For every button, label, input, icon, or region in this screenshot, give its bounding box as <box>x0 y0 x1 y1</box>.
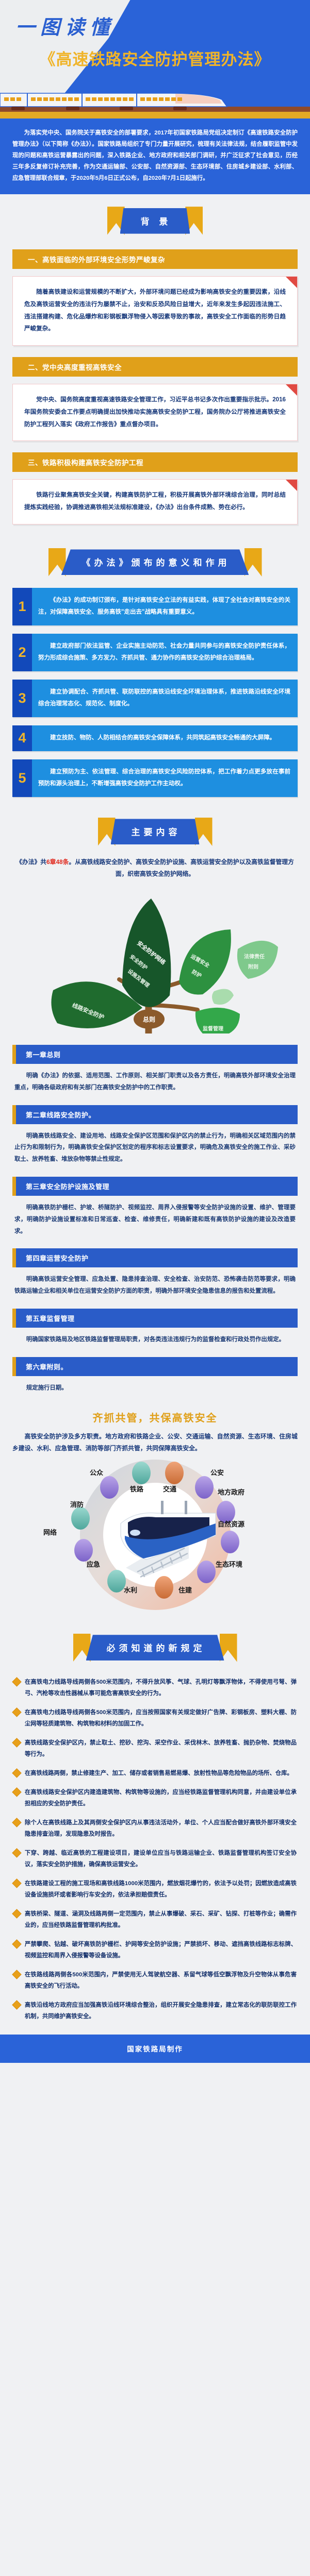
intro-block: 为落实党中央、国务院关于高铁安全的部署要求，2017年初国家铁路局党组决定制订《… <box>0 116 310 194</box>
background-banner: 背 景 <box>0 194 310 244</box>
stakeholder-dot-11 <box>71 1507 90 1530</box>
chapter-body-3: 明确高铁防护栅栏、护坡、桥隧防护、视频监控、周界入侵报警等安全防护设施的设置、维… <box>14 1202 296 1237</box>
background-body-3: 铁路行业聚焦高铁安全关键，构建高铁防护工程，积极开展高铁外部环境综合治理，同时总… <box>24 489 286 514</box>
tree-leaf-5: 法律责任 附则 <box>237 941 278 979</box>
list-item: 在高铁线路两侧，禁止修建生产、加工、储存或者销售易燃易爆、放射性物品等危险物品的… <box>13 1768 297 1779</box>
chapter-body-4: 明确高铁运营安全管理、应急处置、隐患排查治理、安全检查、治安防范、恐怖袭击防范等… <box>14 1274 296 1297</box>
joint-desc: 高铁安全防护涉及多方职责。地方政府和铁路企业、公安、交通运输、自然资源、生态环境… <box>12 1431 298 1454</box>
infographic-page: 一图读懂 《高速铁路安全防护管理办法》 <box>0 0 310 2063</box>
item-text: 建立政府部门依法监管、企业实施主动防范、社会力量共同参与的高铁安全防护责任体系，… <box>32 634 298 671</box>
main-intro-pre: 《办法》共 <box>16 858 46 866</box>
rule-text: 高铁线路安全保护区内，禁止取土、挖砂、挖沟、采空作业、采伐林木、放养牲畜、抛扔杂… <box>25 1737 297 1760</box>
stakeholder-label-4: 公安 <box>210 1469 224 1477</box>
main-content-intro: 《办法》共6章48条。从高铁线路安全防护、高铁安全防护设施、高铁运营安全防护以及… <box>0 855 310 880</box>
list-item: 1 《办法》的成功制订颁布，是针对高铁安全立法的有益实践，体现了全社会对高铁安全… <box>12 588 298 625</box>
rule-text: 高铁桥梁、隧道、涵洞及线路两侧一定范围内，禁止从事爆破、采石、采矿、钻探、打桩等… <box>25 1908 297 1931</box>
chapter-body-wrap-2: 明确高铁线路安全、建设用地、线路安全保护区范围和保护区内的禁止行为，明确相关区域… <box>12 1130 298 1165</box>
list-item: 严禁攀爬、钻越、破坏高铁防护栅栏、护网等安全防护设施；严禁损坏、移动、遮挡高铁线… <box>13 1939 297 1961</box>
stakeholder-label-8: 住建 <box>178 1586 192 1594</box>
list-item: 5 建立预防为主、依法管理、综合治理的高铁安全风险防控体系，把工作着力点更多放在… <box>12 759 298 797</box>
stakeholder-dot-7 <box>197 1561 216 1583</box>
tree-leaf-label-4: 监督管理 <box>203 1025 223 1032</box>
rule-text: 在高铁电力线路导线两侧各500米范围内，应当按照国家有关规定做好广告牌、彩钢板房… <box>25 1707 297 1730</box>
list-item: 在高铁电力线路导线两侧各500米范围内，应当按照国家有关规定做好广告牌、彩钢板房… <box>13 1707 297 1730</box>
item-number: 5 <box>12 759 32 797</box>
stakeholder-label-2: 铁路 <box>129 1485 144 1493</box>
main-content-banner: 主要内容 <box>0 805 310 855</box>
tree-leaf-label-5b: 附则 <box>248 963 258 970</box>
background-banner-label: 背 景 <box>120 208 190 234</box>
stakeholder-dot-10 <box>74 1539 93 1562</box>
tree-leaf-4: 监督管理 <box>195 1008 239 1033</box>
rule-text: 在铁路建设工程的施工现场和高铁线路1000米范围内，燃放烟花爆竹的，依法予以处罚… <box>25 1878 297 1901</box>
diamond-bullet-icon <box>12 1878 21 1888</box>
joint-title: 齐抓共管，共保高铁安全 <box>0 1394 310 1428</box>
background-card-2: 党中央、国务院高度重视高速铁路安全管理工作，习近平总书记多次作出重要指示批示。2… <box>12 384 298 441</box>
background-card-1: 随着高铁建设和运营规模的不断扩大，外部环境问题已经成为影响高铁安全的重要因素，沿… <box>12 276 298 346</box>
item-number: 4 <box>12 725 32 751</box>
rule-text: 下穿、跨越、临近高铁的工程建设项目，建设单位应当与铁路运输企业、铁路监督管理机构… <box>25 1848 297 1870</box>
rule-text: 在铁路线路两侧各500米范围内，严禁使用无人驾驶航空器、系留气球等低空飘浮物及升… <box>25 1969 297 1992</box>
list-item: 下穿、跨越、临近高铁的工程建设项目，建设单位应当与铁路运输企业、铁路监督管理机构… <box>13 1848 297 1870</box>
item-text: 建立协调配合、齐抓共管、联防联控的高铁沿线安全环境治理体系，推进铁路沿线安全环境… <box>32 680 298 717</box>
page-footer: 国家铁路局制作 <box>0 2035 310 2063</box>
list-item: 高铁线路安全保护区内，禁止取土、挖砂、挖沟、采空作业、采伐林木、放养牲畜、抛扔杂… <box>13 1737 297 1760</box>
tree-leaf-accent-icon <box>212 989 234 1005</box>
chapter-heading-4: 第四章运营安全防护 <box>12 1248 298 1267</box>
diamond-bullet-icon <box>12 1818 21 1827</box>
list-item: 高铁沿线地方政府应当加强高铁沿线环境综合整治，组织开展安全隐患排查，建立常态化的… <box>13 1999 297 2022</box>
stakeholder-dot-6 <box>221 1531 239 1553</box>
item-number: 2 <box>12 634 32 671</box>
stakeholder-label-9: 水利 <box>124 1586 137 1594</box>
stakeholder-label-5: 地方政府 <box>218 1488 244 1496</box>
chapter-body-wrap-4: 明确高铁运营安全管理、应急处置、隐患排查治理、安全检查、治安防范、恐怖袭击防范等… <box>12 1274 298 1297</box>
chapter-body-5: 明确国家铁路局及地区铁路监督管理局职责，对各类违法违规行为的监督检查和行政处罚作… <box>14 1334 296 1346</box>
chapter-body-wrap-5: 明确国家铁路局及地区铁路监督管理局职责，对各类违法违规行为的监督检查和行政处罚作… <box>12 1334 298 1346</box>
diamond-bullet-icon <box>12 1677 21 1686</box>
diamond-bullet-icon <box>12 1848 21 1857</box>
list-item: 除个人在高铁线路上及其两侧安全保护区内从事违法活动外，单位、个人应当配合做好高铁… <box>13 1817 297 1840</box>
stakeholder-circle-diagram: 公众 铁路 交通 公安 地方政府 自然资源 生态环境 住建 水利 <box>0 1458 310 1621</box>
rule-text: 在高铁线路安全保护区内建造建筑物、构筑物等设施的，应当经铁路监督管理机构同意，并… <box>25 1787 297 1809</box>
list-item: 在高铁电力线路导线两侧各500米范围内，不得升放风筝、气球、孔明灯等飘浮物体，不… <box>13 1676 297 1699</box>
item-number: 3 <box>12 680 32 717</box>
diamond-bullet-icon <box>12 1787 21 1797</box>
stakeholder-label-3: 交通 <box>163 1485 176 1493</box>
item-text: 建立技防、物防、人防相结合的高铁安全保障体系，共同筑起高铁安全畅通的大屏障。 <box>32 725 298 751</box>
page-header: 一图读懂 《高速铁路安全防护管理办法》 <box>0 0 310 116</box>
list-item: 3 建立协调配合、齐抓共管、联防联控的高铁沿线安全环境治理体系，推进铁路沿线安全… <box>12 680 298 717</box>
rule-text: 在高铁电力线路导线两侧各500米范围内，不得升放风筝、气球、孔明灯等飘浮物体，不… <box>25 1676 297 1699</box>
stakeholder-label-10: 应急 <box>87 1561 100 1568</box>
stakeholder-dot-9 <box>107 1570 126 1592</box>
diamond-bullet-icon <box>12 1707 21 1717</box>
rule-text: 除个人在高铁线路上及其两侧安全保护区内从事违法活动外，单位、个人应当配合做好高铁… <box>25 1817 297 1840</box>
stakeholder-dot-1 <box>100 1476 119 1499</box>
item-number: 1 <box>12 588 32 625</box>
tree-leaf-label-5a: 法律责任 <box>244 953 265 960</box>
background-card-3: 铁路行业聚焦高铁安全关键，构建高铁防护工程，积极开展高铁外部环境综合治理，同时总… <box>12 479 298 524</box>
item-text: 《办法》的成功制订颁布，是针对高铁安全立法的有益实践，体现了全社会对高铁安全的关… <box>32 588 298 625</box>
stakeholder-dot-3 <box>165 1462 184 1484</box>
stakeholder-label-11: 消防 <box>70 1501 84 1509</box>
chapter-heading-2: 第二章线路安全防护。 <box>12 1105 298 1124</box>
chapter-body-wrap-6: 规定施行日期。 <box>12 1382 298 1394</box>
rule-text: 高铁沿线地方政府应当加强高铁沿线环境综合整治，组织开展安全隐患排查，建立常态化的… <box>25 1999 297 2022</box>
main-content-banner-label: 主要内容 <box>111 819 200 844</box>
background-heading-2: 二、党中央高度重视高铁安全 <box>12 357 298 377</box>
chapter-heading-1: 第一章总则 <box>12 1045 298 1064</box>
diamond-bullet-icon <box>12 1738 21 1747</box>
joint-desc-pre: 高铁安全防护涉及多方职责。 <box>25 1433 105 1440</box>
main-intro-highlight: 6章48条 <box>46 858 69 866</box>
chapter-body-6: 规定施行日期。 <box>14 1382 296 1394</box>
significance-banner: 《办法》颁布的意义和作用 <box>0 536 310 586</box>
stakeholder-label-12: 网络 <box>43 1529 57 1536</box>
stakeholder-label-7: 生态环境 <box>216 1561 242 1568</box>
stakeholder-label-6: 自然资源 <box>218 1520 244 1528</box>
diamond-bullet-icon <box>12 1768 21 1777</box>
significance-banner-label: 《办法》颁布的意义和作用 <box>61 549 249 575</box>
chapter-heading-3: 第三章安全防护设施及管理 <box>12 1177 298 1196</box>
item-text: 建立预防为主、依法管理、综合治理的高铁安全风险防控体系，把工作着力点更多放在事前… <box>32 759 298 797</box>
page-title: 《高速铁路安全防护管理办法》 <box>0 46 310 70</box>
joint-desc-wrap: 高铁安全防护涉及多方职责。地方政府和铁路企业、公安、交通运输、自然资源、生态环境… <box>0 1428 310 1454</box>
list-item: 在高铁线路安全保护区内建造建筑物、构筑物等设施的，应当经铁路监督管理机构同意，并… <box>13 1787 297 1809</box>
chapter-body-2: 明确高铁线路安全、建设用地、线路安全保护区范围和保护区内的禁止行为，明确相关区域… <box>14 1130 296 1165</box>
rule-text: 严禁攀爬、钻越、破坏高铁防护栅栏、护网等安全防护设施；严禁损坏、移动、遮挡高铁线… <box>25 1939 297 1961</box>
diamond-bullet-icon <box>12 1939 21 1948</box>
background-heading-3: 三、铁路积极构建高铁安全防护工程 <box>12 452 298 472</box>
new-rules-banner: 必须知道的新规定 <box>0 1621 310 1671</box>
chapter-body-1: 明确《办法》的依据、适用范围、工作原则、相关部门职责以及各方责任，明确高铁外部环… <box>14 1070 296 1094</box>
chapter-body-wrap-1: 明确《办法》的依据、适用范围、工作原则、相关部门职责以及各方责任，明确高铁外部环… <box>12 1070 298 1094</box>
stakeholder-dot-8 <box>155 1576 173 1599</box>
list-item: 在铁路线路两侧各500米范围内，严禁使用无人驾驶航空器、系留气球等低空飘浮物及升… <box>13 1969 297 1992</box>
significance-list: 1 《办法》的成功制订颁布，是针对高铁安全立法的有益实践，体现了全社会对高铁安全… <box>0 586 310 797</box>
page-kicker: 一图读懂 <box>15 11 115 40</box>
rule-text: 在高铁线路两侧，禁止修建生产、加工、储存或者销售易燃易爆、放射性物品等危险物品的… <box>25 1768 297 1779</box>
high-speed-train-icon <box>0 84 310 116</box>
chapter-body-wrap-3: 明确高铁防护栅栏、护坡、桥隧防护、视频监控、周界入侵报警等安全防护设施的设置、维… <box>12 1202 298 1237</box>
tree-root-label: 总则 <box>142 1015 155 1023</box>
list-item: 高铁桥梁、隧道、涵洞及线路两侧一定范围内，禁止从事爆破、采石、采矿、钻探、打桩等… <box>13 1908 297 1931</box>
list-item: 在铁路建设工程的施工现场和高铁线路1000米范围内，燃放烟花爆竹的，依法予以处罚… <box>13 1878 297 1901</box>
stakeholder-dot-2 <box>132 1462 151 1484</box>
stakeholder-label-1: 公众 <box>90 1469 103 1477</box>
background-body-2: 党中央、国务院高度重视高速铁路安全管理工作，习近平总书记多次作出重要指示批示。2… <box>24 394 286 430</box>
intro-paragraph: 为落实党中央、国务院关于高铁安全的部署要求，2017年初国家铁路局党组决定制订《… <box>12 127 298 184</box>
diamond-bullet-icon <box>12 1970 21 1979</box>
diamond-bullet-icon <box>12 1909 21 1918</box>
tree-diagram: 线路安全防护 安全防护 设施及管理 运营安全 防护 监督管理 <box>0 884 310 1033</box>
diamond-bullet-icon <box>12 2000 21 2009</box>
stakeholder-dot-4 <box>195 1476 214 1499</box>
chapter-heading-6: 第六章附则。 <box>12 1357 298 1376</box>
main-intro-post: 。从高铁线路安全防护、高铁安全防护设施、高铁运营安全防护以及高铁监督管理方面，织… <box>69 858 294 877</box>
background-body-1: 随着高铁建设和运营规模的不断扩大，外部环境问题已经成为影响高铁安全的重要因素，沿… <box>24 286 286 335</box>
list-item: 4 建立技防、物防、人防相结合的高铁安全保障体系，共同筑起高铁安全畅通的大屏障。 <box>12 725 298 751</box>
background-heading-1: 一、高铁面临的外部环境安全形势严峻复杂 <box>12 249 298 269</box>
chapter-heading-5: 第五章监督管理 <box>12 1309 298 1328</box>
list-item: 2 建立政府部门依法监管、企业实施主动防范、社会力量共同参与的高铁安全防护责任体… <box>12 634 298 671</box>
new-rules-banner-label: 必须知道的新规定 <box>86 1635 224 1660</box>
tree-leaf-3: 运营安全 防护 <box>179 929 231 995</box>
new-rules-list: 在高铁电力线路导线两侧各500米范围内，不得升放风筝、气球、孔明灯等飘浮物体，不… <box>0 1671 310 2022</box>
